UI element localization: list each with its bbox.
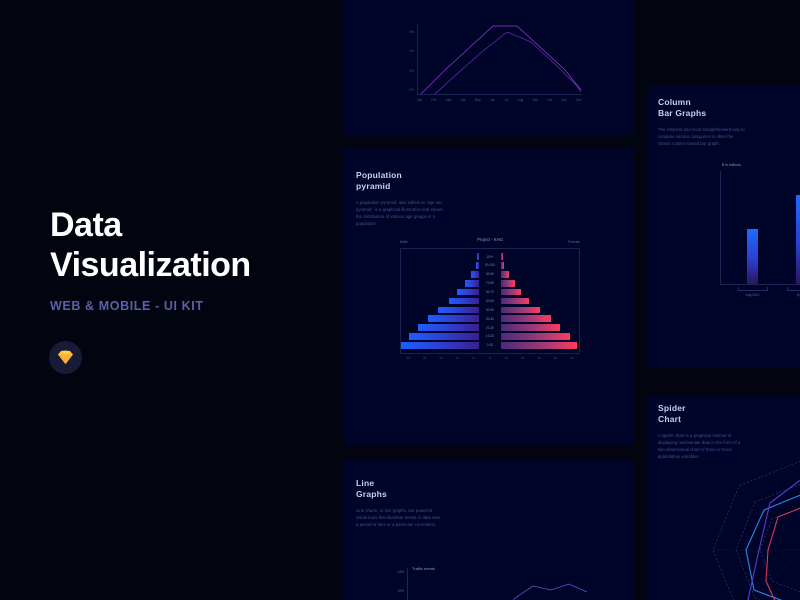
x-tick: Apr: [461, 98, 466, 102]
ui-kit-canvas: Data Visualization WEB & MOBILE - UI KIT…: [0, 0, 800, 600]
x-tick: May: [475, 98, 481, 102]
x-tick: Jan: [417, 98, 422, 102]
pyramid-row: 0-10: [401, 342, 579, 349]
y-tick: 12%: [397, 589, 404, 593]
hero-block: Data Visualization WEB & MOBILE - UI KIT: [50, 205, 330, 313]
pyramid-row: 40-50: [401, 307, 579, 314]
x-axis-line: [720, 284, 800, 285]
age-label: 30-40: [479, 317, 501, 321]
line-graph-series: [407, 568, 587, 600]
column-bar-plot: $ in millions Aug 2013 Q4 '16: [718, 163, 800, 303]
x-tick: 0: [482, 356, 498, 360]
card-population-pyramid[interactable]: Population pyramid A population pyramid,…: [344, 148, 634, 446]
x-tick: Jun: [490, 98, 495, 102]
line-graphs-header: Line Graphs Line charts, or line graphs,…: [356, 478, 444, 528]
pyramid-header: Population pyramid A population pyramid,…: [356, 170, 444, 228]
spider-series-blue: [746, 494, 800, 600]
pyramid-plot-header: Male Project - KHG Female: [400, 236, 580, 248]
column-bars: [728, 177, 800, 284]
y-tick: 2%: [409, 69, 414, 73]
x-tick: Jul: [504, 98, 508, 102]
card-description: The simplest and most straightforward wa…: [658, 126, 746, 147]
pyramid-x-ticks: 50 40 30 20 10 0 10 20 30 40 50: [400, 356, 580, 366]
spider-grid: [713, 460, 800, 600]
y-tick: 0%: [409, 88, 414, 92]
age-label: 60-70: [479, 290, 501, 294]
x-tick: 40: [547, 356, 563, 360]
card-description: A population pyramid, also called an 'ag…: [356, 199, 444, 228]
pyramid-row: 70-80: [401, 280, 579, 287]
x-tick: 20: [449, 356, 465, 360]
page-subtitle: WEB & MOBILE - UI KIT: [50, 299, 330, 313]
pyramid-row: 60-70: [401, 289, 579, 296]
y-axis-line: [720, 171, 721, 285]
spider-chart-svg: [708, 455, 800, 600]
line-graph-plot: 14% 12% 10% 8% Traffic trends something …: [390, 564, 630, 600]
x-tick-group: Q4 '16: [787, 287, 800, 301]
card-title: Column Bar Graphs: [658, 97, 746, 120]
pyramid-row: 90-100: [401, 262, 579, 269]
age-label: 0-10: [479, 343, 501, 347]
age-label: 90-100: [479, 263, 501, 267]
card-spider-chart[interactable]: Spider Chart A spider chart is a graphic…: [648, 395, 800, 600]
y-tick: 4%: [409, 49, 414, 53]
x-tick: 50: [400, 356, 416, 360]
card-title: Spider Chart: [658, 403, 746, 426]
card-top-line-chart[interactable]: 6% 4% 2% 0% Jan Feb Mar Apr May Jun Jul …: [344, 0, 634, 135]
x-tick-group: Aug 2013: [738, 287, 768, 301]
spider-spokes: [713, 460, 800, 600]
pyramid-chart-title: Project - KHG: [477, 237, 503, 242]
sketch-logo-badge[interactable]: [49, 341, 82, 374]
card-title: Line Graphs: [356, 478, 444, 501]
pyramid-right-label: Female: [568, 240, 580, 244]
x-tick: Oct: [547, 98, 552, 102]
age-label: 70-80: [479, 281, 501, 285]
column-bars-header: Column Bar Graphs The simplest and most …: [658, 97, 746, 147]
card-title: Population pyramid: [356, 170, 444, 193]
top-chart-plot: 6% 4% 2% 0% Jan Feb Mar Apr May Jun Jul …: [402, 30, 582, 125]
pyramid-row: 10-20: [401, 333, 579, 340]
x-tick: Feb: [431, 98, 437, 102]
x-tick: Aug: [518, 98, 524, 102]
x-tick: 30: [433, 356, 449, 360]
pyramid-left-label: Male: [400, 240, 408, 244]
top-chart-y-ticks: 6% 4% 2% 0%: [402, 30, 414, 92]
x-tick: Q4 '16: [787, 293, 800, 297]
sketch-diamond-icon: [57, 350, 74, 365]
x-tick: Sep: [532, 98, 538, 102]
age-label: 20-30: [479, 326, 501, 330]
column-x-ticks: Aug 2013 Q4 '16: [728, 287, 800, 301]
y-tick: 6%: [409, 30, 414, 34]
x-tick: 30: [531, 356, 547, 360]
pyramid-row: 80-90: [401, 271, 579, 278]
x-tick: 10: [498, 356, 514, 360]
spider-series-red: [766, 495, 800, 600]
top-chart-lines: [417, 24, 582, 94]
spider-plot: [708, 455, 800, 600]
pyramid-row: 20-30: [401, 324, 579, 331]
x-tick: Dec: [576, 98, 582, 102]
top-chart-x-ticks: Jan Feb Mar Apr May Jun Jul Aug Sep Oct …: [417, 98, 582, 102]
bar[interactable]: [747, 229, 758, 285]
pyramid-row: 50-60: [401, 298, 579, 305]
x-tick: Aug 2013: [738, 293, 768, 297]
pyramid-bars: 100+ 90-100 80-90 70-80: [400, 248, 580, 354]
age-label: 50-60: [479, 299, 501, 303]
card-column-bar-graphs[interactable]: Column Bar Graphs The simplest and most …: [648, 85, 800, 368]
page-title: Data Visualization: [50, 205, 330, 285]
x-tick: 50: [564, 356, 580, 360]
tick-bracket: [787, 287, 800, 291]
pyramid-row: 100+: [401, 253, 579, 260]
tick-bracket: [738, 287, 768, 291]
x-tick: Nov: [561, 98, 567, 102]
line-graph-y-ticks: 14% 12% 10% 8%: [390, 570, 404, 600]
y-tick: 14%: [397, 570, 404, 574]
spider-header: Spider Chart A spider chart is a graphic…: [658, 403, 746, 461]
card-line-graphs[interactable]: Line Graphs Line charts, or line graphs,…: [344, 460, 634, 600]
column-y-axis-label: $ in millions: [722, 163, 741, 167]
age-label: 10-20: [479, 334, 501, 338]
pyramid-plot: Male Project - KHG Female 100+ 90-100 8: [400, 236, 580, 366]
x-tick: 40: [416, 356, 432, 360]
bar[interactable]: [796, 195, 800, 284]
age-label: 80-90: [479, 272, 501, 276]
age-label: 100+: [479, 255, 501, 259]
pyramid-row: 30-40: [401, 315, 579, 322]
x-tick: Mar: [446, 98, 452, 102]
x-tick: 20: [515, 356, 531, 360]
card-description: Line charts, or line graphs, are powerfu…: [356, 507, 444, 528]
age-label: 40-50: [479, 308, 501, 312]
x-axis-line: [417, 94, 582, 95]
x-tick: 10: [465, 356, 481, 360]
